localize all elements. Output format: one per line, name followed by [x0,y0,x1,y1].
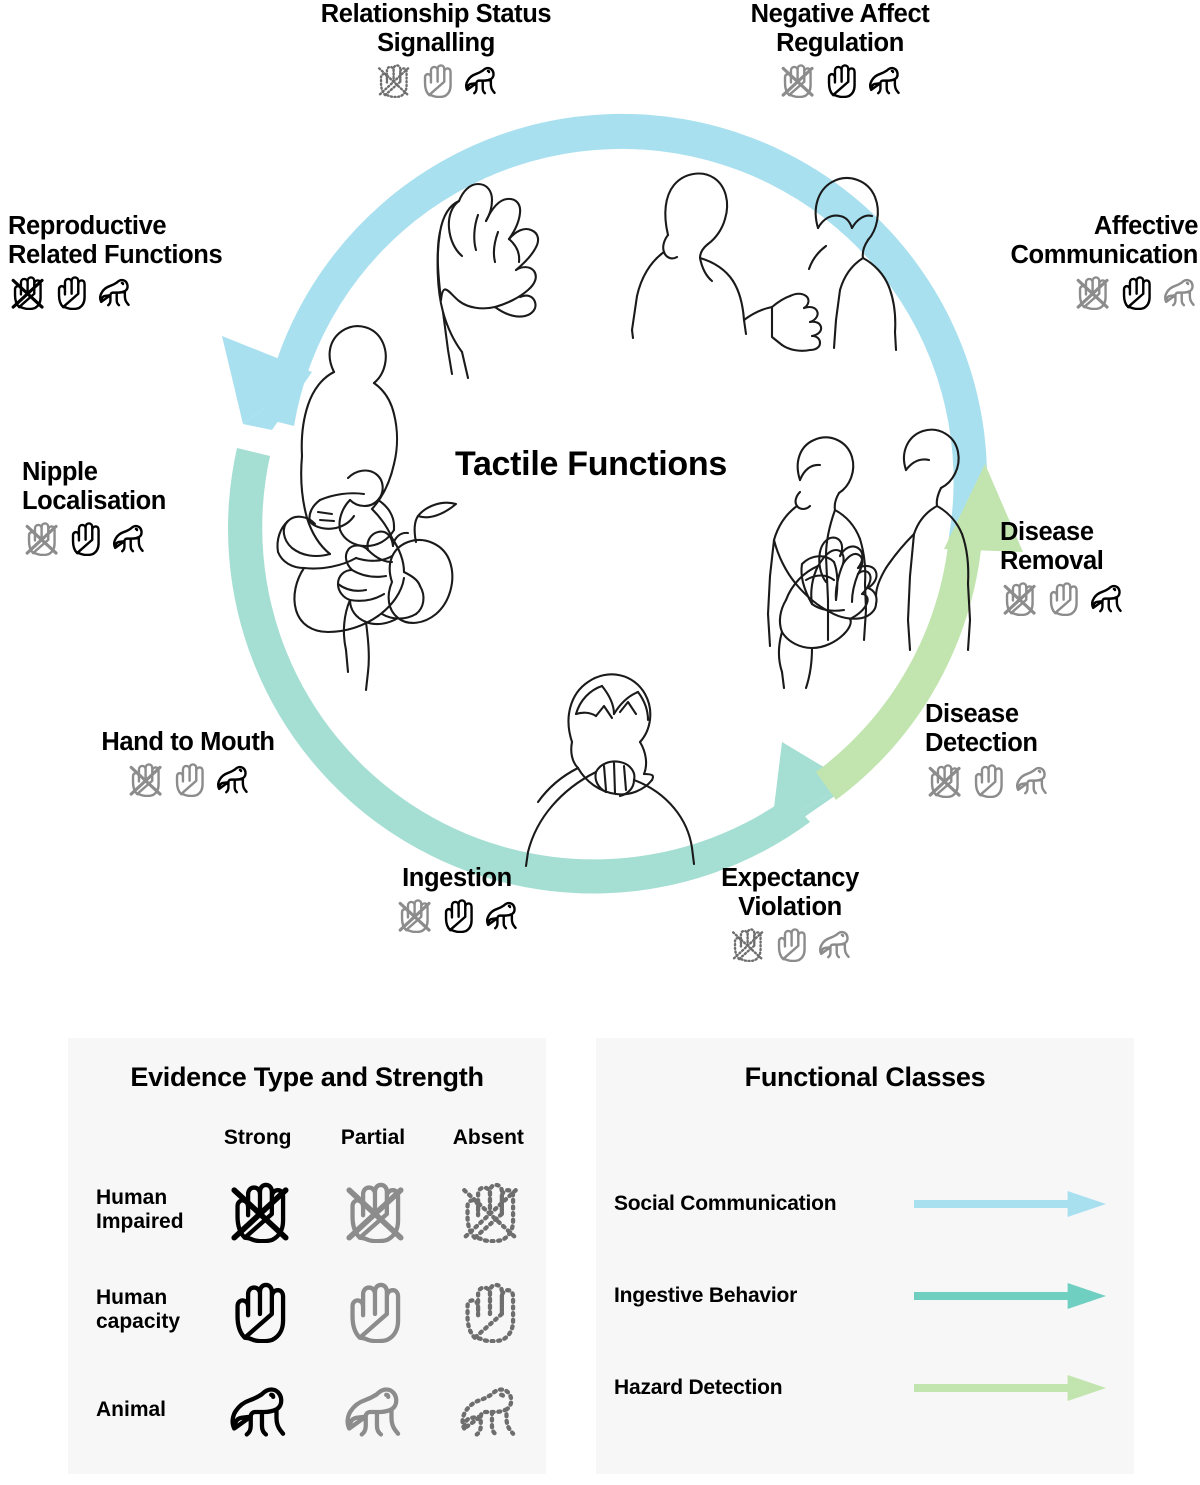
evidence-row [690,61,990,98]
class-row-social-communication: Social Communication [596,1158,1134,1250]
human-capacity-strong-icon [66,519,103,556]
evidence-row [332,896,582,933]
node-label: Disease Detection [925,700,1155,758]
functional-classes-list: Social Communication Ingestive Behavior … [596,1158,1134,1434]
functional-classes-panel: Functional Classes Social Communication … [596,1038,1134,1474]
human-impaired-absent-icon [374,61,411,98]
node-hand-to-mouth: Hand to Mouth [48,728,328,797]
ape-icon [340,1377,406,1443]
human-capacity-partial-icon [1044,579,1081,616]
node-relationship-status-signalling: Relationship Status Signalling [268,0,604,98]
ape-icon [225,1377,291,1443]
hand-icon [225,1277,291,1343]
two-people-shoulder-touch-illustration [632,174,896,351]
human-impaired-partial-icon [1073,273,1110,310]
column-header-partial: Partial [315,1126,430,1150]
legend-cell-impaired-partial [315,1177,430,1243]
human-capacity-partial-icon [170,760,207,797]
node-label: Relationship Status Signalling [268,0,604,58]
evidence-row [22,519,272,556]
human-impaired-partial-icon [1000,579,1037,616]
ape-icon [455,1377,521,1443]
human-impaired-strong-icon [8,273,45,310]
legend-cell-capacity-absent [431,1277,546,1343]
tactile-functions-figure: Tactile Functions Relationship Status Si… [0,0,1200,1485]
class-label: Social Communication [614,1192,914,1216]
animal-partial-icon [1161,273,1198,310]
node-label: Affective Communication [880,212,1198,270]
legend-cell-capacity-partial [315,1277,430,1343]
legend-cell-animal-absent [431,1377,546,1443]
human-impaired-absent-icon [728,925,765,962]
human-impaired-partial-icon [778,61,815,98]
animal-partial-icon [816,925,853,962]
row-header-human-impaired: Human Impaired [68,1186,200,1233]
human-impaired-partial-icon [395,896,432,933]
human-capacity-strong-icon [52,273,89,310]
node-label: Reproductive Related Functions [8,212,308,270]
node-label: Ingestion [332,864,582,893]
column-header-strong: Strong [200,1126,315,1150]
human-capacity-strong-icon [822,61,859,98]
hand-icon [340,1277,406,1343]
node-ingestion: Ingestion [332,864,582,933]
human-capacity-partial-icon [772,925,809,962]
node-expectancy-violation: Expectancy Violation [650,864,930,962]
node-disease-removal: Disease Removal [1000,518,1200,616]
person-hand-to-mouth-illustration [526,674,694,866]
node-affective-communication: Affective Communication [880,212,1198,310]
node-label: Disease Removal [1000,518,1200,576]
node-label: Expectancy Violation [650,864,930,922]
evidence-legend-title: Evidence Type and Strength [68,1062,546,1093]
arrow-social-communication-swatch [914,1189,1106,1219]
class-row-ingestive-behavior: Ingestive Behavior [596,1250,1134,1342]
evidence-row [268,61,604,98]
evidence-row [48,760,328,797]
column-header-absent: Absent [431,1126,546,1150]
node-label: Nipple Localisation [22,458,272,516]
animal-strong-icon [96,273,133,310]
human-capacity-partial-icon [969,761,1006,798]
animal-partial-icon [1013,761,1050,798]
evidence-row [880,273,1198,310]
human-impaired-partial-icon [22,519,59,556]
human-capacity-partial-icon [418,61,455,98]
hand-icon [455,1277,521,1343]
animal-strong-icon [483,896,520,933]
evidence-legend-grid: Strong Partial Absent Human Impaired Hum… [68,1116,546,1460]
legend-cell-animal-strong [200,1377,315,1443]
evidence-legend-panel: Evidence Type and Strength Strong Partia… [68,1038,546,1474]
page-title: Tactile Functions [455,445,727,484]
row-header-animal: Animal [68,1398,200,1422]
functional-classes-title: Functional Classes [596,1062,1134,1093]
evidence-row [925,761,1155,798]
human-impaired-partial-icon [925,761,962,798]
two-hands-fingertip-touch-illustration [438,184,538,378]
animal-strong-icon [110,519,147,556]
arrow-hazard-detection-swatch [914,1373,1106,1403]
human-capacity-strong-icon [439,896,476,933]
animal-strong-icon [214,760,251,797]
node-label: Negative Affect Regulation [690,0,990,58]
legend-cell-animal-partial [315,1377,430,1443]
class-label: Hazard Detection [614,1376,914,1400]
node-reproductive-related-functions: Reproductive Related Functions [8,212,308,310]
node-nipple-localisation: Nipple Localisation [22,458,272,556]
evidence-row [1000,579,1200,616]
legend-cell-impaired-strong [200,1177,315,1243]
animal-strong-icon [462,61,499,98]
legend-cell-impaired-absent [431,1177,546,1243]
class-label: Ingestive Behavior [614,1284,914,1308]
class-row-hazard-detection: Hazard Detection [596,1342,1134,1434]
circular-diagram: Tactile Functions Relationship Status Si… [0,0,1200,1020]
crossed-hand-icon [455,1177,521,1243]
human-impaired-partial-icon [126,760,163,797]
animal-strong-icon [1088,579,1125,616]
node-disease-detection: Disease Detection [925,700,1155,798]
animal-strong-icon [866,61,903,98]
node-negative-affect-regulation: Negative Affect Regulation [690,0,990,98]
crossed-hand-icon [225,1177,291,1243]
legend-cell-capacity-strong [200,1277,315,1343]
human-capacity-strong-icon [1117,273,1154,310]
two-people-consoling-touch-illustration [768,430,970,650]
evidence-row [650,925,930,962]
crossed-hand-icon [340,1177,406,1243]
mother-breastfeeding-infant-illustration [277,326,423,632]
evidence-row [8,273,308,310]
node-label: Hand to Mouth [48,728,328,757]
row-header-human-capacity: Human capacity [68,1286,200,1333]
arrow-ingestive-behavior-swatch [914,1281,1106,1311]
